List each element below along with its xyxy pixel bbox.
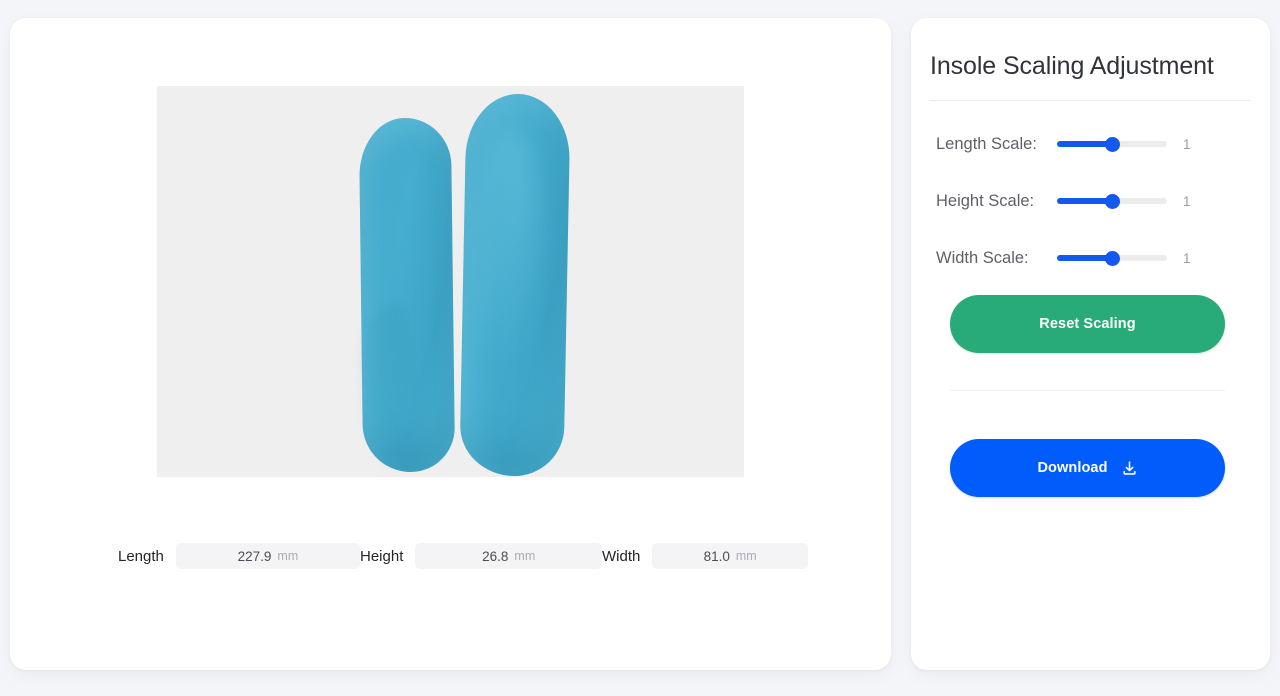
measurement-length-field[interactable]: 227.9 mm (176, 543, 360, 569)
measurement-length: Length 227.9 mm (118, 543, 360, 569)
control-row-width-scale: Width Scale: 1 (911, 240, 1270, 276)
scaling-controls: Length Scale: 1 Height Scale: 1 Widt (911, 126, 1270, 297)
measurement-height-field[interactable]: 26.8 mm (415, 543, 602, 569)
control-row-length-scale: Length Scale: 1 (911, 126, 1270, 162)
measurement-length-unit: mm (277, 549, 298, 563)
reset-scaling-button[interactable]: Reset Scaling (950, 295, 1225, 353)
download-button[interactable]: Download (950, 439, 1225, 497)
width-scale-slider-thumb[interactable] (1105, 251, 1120, 266)
measurement-length-value: 227.9 (238, 549, 272, 564)
height-scale-slider[interactable] (1057, 193, 1167, 209)
download-icon (1121, 460, 1138, 477)
length-scale-slider-thumb[interactable] (1105, 137, 1120, 152)
length-scale-slider[interactable] (1057, 136, 1167, 152)
length-scale-value: 1 (1183, 137, 1203, 152)
panel-divider-bottom (950, 390, 1225, 391)
height-scale-value: 1 (1183, 194, 1203, 209)
height-scale-slider-thumb[interactable] (1105, 194, 1120, 209)
insole-3d-viewer[interactable] (157, 86, 744, 477)
viewer-card: Length 227.9 mm Height 26.8 mm Width 81.… (10, 18, 891, 670)
insole-model-right[interactable] (459, 93, 570, 477)
measurement-width-value: 81.0 (704, 549, 730, 564)
measurement-width-label: Width (602, 548, 640, 565)
measurement-height-label: Height (360, 548, 403, 565)
measurement-width-field[interactable]: 81.0 mm (652, 543, 808, 569)
width-scale-slider[interactable] (1057, 250, 1167, 266)
height-scale-label: Height Scale: (936, 192, 1057, 211)
width-scale-label: Width Scale: (936, 249, 1057, 268)
measurement-width: Width 81.0 mm (602, 543, 808, 569)
length-scale-slider-fill (1057, 141, 1112, 147)
control-row-height-scale: Height Scale: 1 (911, 183, 1270, 219)
app-root: Length 227.9 mm Height 26.8 mm Width 81.… (0, 0, 1280, 696)
measurement-height-value: 26.8 (482, 549, 508, 564)
length-scale-label: Length Scale: (936, 135, 1057, 154)
measurement-width-unit: mm (736, 549, 757, 563)
height-scale-slider-fill (1057, 198, 1112, 204)
panel-divider-top (930, 100, 1250, 101)
measurement-length-label: Length (118, 548, 164, 565)
measurement-height-unit: mm (514, 549, 535, 563)
download-button-label: Download (1037, 460, 1107, 476)
measurements-row: Length 227.9 mm Height 26.8 mm Width 81.… (118, 543, 808, 569)
panel-title: Insole Scaling Adjustment (930, 52, 1214, 81)
measurement-height: Height 26.8 mm (360, 543, 602, 569)
insole-model-left[interactable] (359, 116, 455, 474)
scaling-panel: Insole Scaling Adjustment Length Scale: … (911, 18, 1270, 670)
width-scale-value: 1 (1183, 251, 1203, 266)
width-scale-slider-fill (1057, 255, 1112, 261)
